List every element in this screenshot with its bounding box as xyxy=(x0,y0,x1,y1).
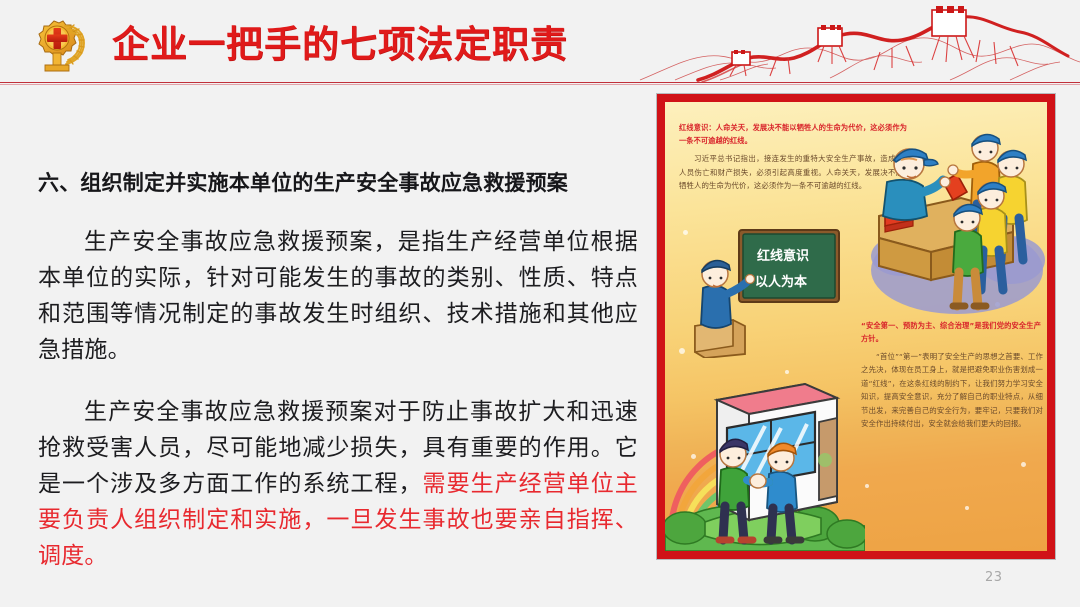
teacher-at-blackboard-illustration: 红线意识 以人为本 xyxy=(693,228,843,358)
blackboard-line-1: 红线意识 xyxy=(757,248,809,264)
safety-poster: 红线意识：人命关天，发展决不能以牺牲人的生命为代价，这必须作为一条不可逾越的红线… xyxy=(657,94,1055,559)
paragraph-1: 生产安全事故应急救援预案，是指生产经营单位根据本单位的实际，针对可能发生的事故的… xyxy=(38,224,638,368)
page-number: 23 xyxy=(985,570,1003,585)
workers-at-desk-illustration xyxy=(861,120,1047,320)
great-wall-illustration-icon xyxy=(580,0,1080,82)
page-title: 企业一把手的七项法定职责 xyxy=(112,18,568,72)
paragraph-1-text: 生产安全事故应急救援预案，是指生产经营单位根据本单位的实际，针对可能发生的事故的… xyxy=(38,229,638,363)
slide: 企业一把手的七项法定职责 xyxy=(0,0,1080,607)
poster-body-text-2: “首位”“第一”表明了安全生产的思想之首要、工作之先决，体现在员工身上，就是把避… xyxy=(861,350,1043,430)
section-title: 六、组织制定并实施本单位的生产安全事故应急救援预案 xyxy=(38,168,638,198)
poster-red-heading-2: “安全第一、预防为主、综合治理”是我们党的安全生产方针。 xyxy=(861,320,1041,345)
header-divider xyxy=(0,82,1080,85)
blackboard-line-2: 以人为本 xyxy=(755,274,807,290)
safety-production-emblem-icon xyxy=(24,17,90,75)
slide-header: 企业一把手的七项法定职责 xyxy=(0,0,1080,86)
paragraph-2: 生产安全事故应急救援预案对于防止事故扩大和迅速抢救受害人员，尽可能地减少损失，具… xyxy=(38,394,638,574)
poster-inner: 红线意识：人命关天，发展决不能以牺牲人的生命为代价，这必须作为一条不可逾越的红线… xyxy=(665,102,1047,551)
rainbow-house-handshake-illustration xyxy=(665,352,865,551)
main-content: 六、组织制定并实施本单位的生产安全事故应急救援预案 生产安全事故应急救援预案，是… xyxy=(38,168,638,600)
